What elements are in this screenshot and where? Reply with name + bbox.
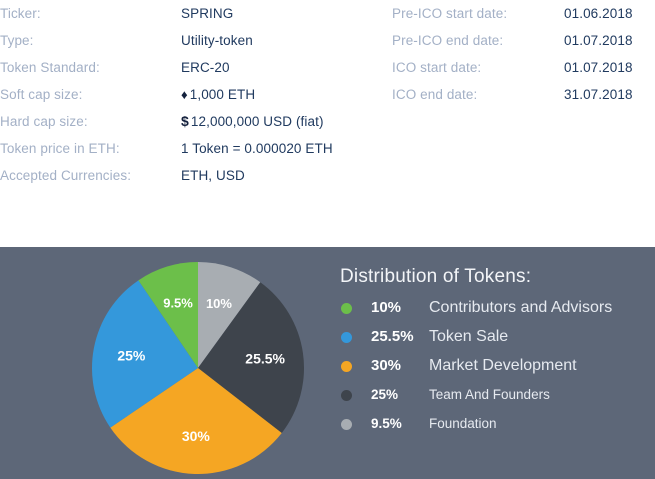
date-row: Pre-ICO end date:01.07.2018	[374, 27, 655, 54]
info-value: ETH, USD	[181, 162, 245, 189]
info-label: Accepted Currencies:	[0, 162, 131, 189]
token-details-column: Ticker:SPRINGType:Utility-tokenToken Sta…	[0, 0, 360, 189]
legend-item[interactable]: 10%Contributors and Advisors	[338, 295, 655, 324]
info-value: ♦1,000 ETH	[181, 81, 255, 108]
info-label: Token price in ETH:	[0, 135, 120, 162]
legend-color-dot	[341, 332, 352, 343]
info-label: Soft cap size:	[0, 81, 82, 108]
legend-item[interactable]: 9.5%Foundation	[338, 411, 655, 440]
token-info-section: Ticker:SPRINGType:Utility-tokenToken Sta…	[0, 0, 655, 247]
info-label: Token Standard:	[0, 54, 100, 81]
date-value: 01.07.2018	[564, 54, 633, 81]
legend-color-dot	[341, 361, 352, 372]
info-row: Type:Utility-token	[0, 27, 360, 54]
date-row: ICO end date:31.07.2018	[374, 81, 655, 108]
dollar-icon: $	[181, 113, 189, 129]
date-label: ICO end date:	[392, 81, 477, 108]
legend-item[interactable]: 25.5%Token Sale	[338, 324, 655, 353]
legend-percent: 30%	[371, 353, 401, 379]
date-value: 01.07.2018	[564, 27, 633, 54]
info-label: Hard cap size:	[0, 108, 88, 135]
pie-svg: 10%25.5%30%25%9.5%	[92, 262, 304, 474]
pie-slice-label: 9.5%	[163, 296, 193, 311]
info-row: Hard cap size:$12,000,000 USD (fiat)	[0, 108, 360, 135]
pie-slice-label: 25.5%	[245, 350, 285, 366]
legend-item[interactable]: 25%Team And Founders	[338, 382, 655, 411]
ico-dates-column: Pre-ICO start date:01.06.2018Pre-ICO end…	[374, 0, 655, 108]
legend-label: Contributors and Advisors	[429, 295, 612, 321]
legend-item[interactable]: 30%Market Development	[338, 353, 655, 382]
date-value: 01.06.2018	[564, 0, 633, 27]
legend-color-dot	[341, 303, 352, 314]
info-value: ERC-20	[181, 54, 230, 81]
pie-slice-label: 30%	[182, 428, 211, 444]
legend-color-dot	[341, 390, 352, 401]
date-value: 31.07.2018	[564, 81, 633, 108]
info-row: Token Standard:ERC-20	[0, 54, 360, 81]
info-value: SPRING	[181, 0, 233, 27]
date-label: Pre-ICO end date:	[392, 27, 503, 54]
pie-slice-label: 25%	[117, 347, 146, 363]
legend-color-dot	[341, 419, 352, 430]
legend-percent: 10%	[371, 295, 401, 321]
legend-percent: 9.5%	[371, 411, 402, 437]
legend-title: Distribution of Tokens:	[340, 266, 531, 288]
info-row: Accepted Currencies:ETH, USD	[0, 162, 360, 189]
pie-slice-label: 10%	[206, 296, 232, 311]
date-row: Pre-ICO start date:01.06.2018	[374, 0, 655, 27]
date-row: ICO start date:01.07.2018	[374, 54, 655, 81]
legend-label: Foundation	[429, 411, 497, 437]
info-label: Ticker:	[0, 0, 41, 27]
info-row: Soft cap size:♦1,000 ETH	[0, 81, 360, 108]
info-row: Token price in ETH:1 Token = 0.000020 ET…	[0, 135, 360, 162]
legend-label: Market Development	[429, 353, 577, 379]
legend-percent: 25%	[371, 382, 398, 408]
info-value: 1 Token = 0.000020 ETH	[181, 135, 333, 162]
token-distribution-pie-chart: 10%25.5%30%25%9.5%	[92, 262, 304, 474]
token-distribution-panel: 10%25.5%30%25%9.5% Distribution of Token…	[0, 247, 655, 479]
date-label: ICO start date:	[392, 54, 481, 81]
info-label: Type:	[0, 27, 34, 54]
legend-percent: 25.5%	[371, 324, 414, 350]
legend-label: Team And Founders	[429, 382, 550, 408]
info-row: Ticker:SPRING	[0, 0, 360, 27]
info-value: Utility-token	[181, 27, 253, 54]
info-value: $12,000,000 USD (fiat)	[181, 108, 324, 135]
date-label: Pre-ICO start date:	[392, 0, 507, 27]
ethereum-icon: ♦	[181, 87, 188, 102]
legend-label: Token Sale	[429, 324, 508, 350]
pie-chart-legend: Distribution of Tokens: 10%Contributors …	[338, 247, 655, 479]
